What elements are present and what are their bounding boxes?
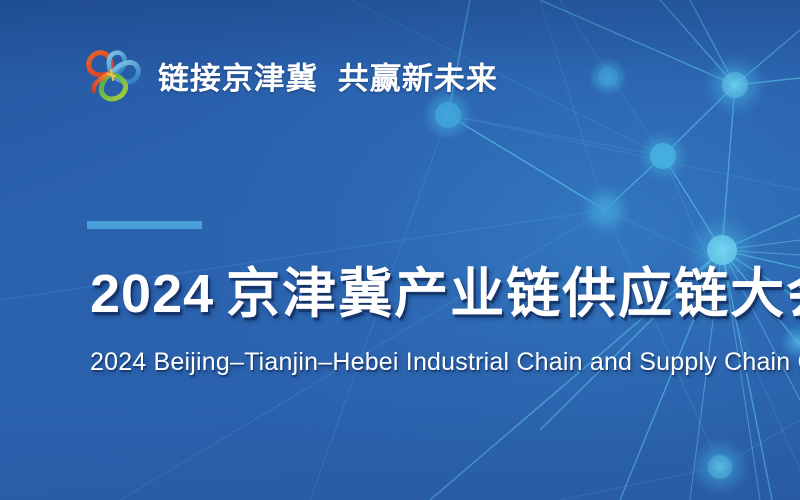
title-cn-text: 京津冀产业链供应链大会 — [226, 264, 800, 324]
page-title-en: 2024 Beijing–Tianjin–Hebei Industrial Ch… — [90, 348, 800, 377]
slogan-part-1: 链接京津冀 — [157, 61, 318, 96]
decorative-accent-bar — [87, 221, 202, 229]
conference-poster: 链接京津冀共赢新未来 2024京津冀产业链供应链大会 2024 Beijing–… — [0, 0, 800, 500]
slogan-part-2: 共赢新未来 — [337, 61, 498, 96]
poster-header: 链接京津冀共赢新未来 — [84, 46, 498, 104]
header-slogan: 链接京津冀共赢新未来 — [157, 53, 499, 98]
page-title-cn: 2024京津冀产业链供应链大会 — [90, 266, 800, 323]
conference-flower-logo — [84, 46, 142, 104]
title-year: 2024 — [90, 264, 214, 324]
